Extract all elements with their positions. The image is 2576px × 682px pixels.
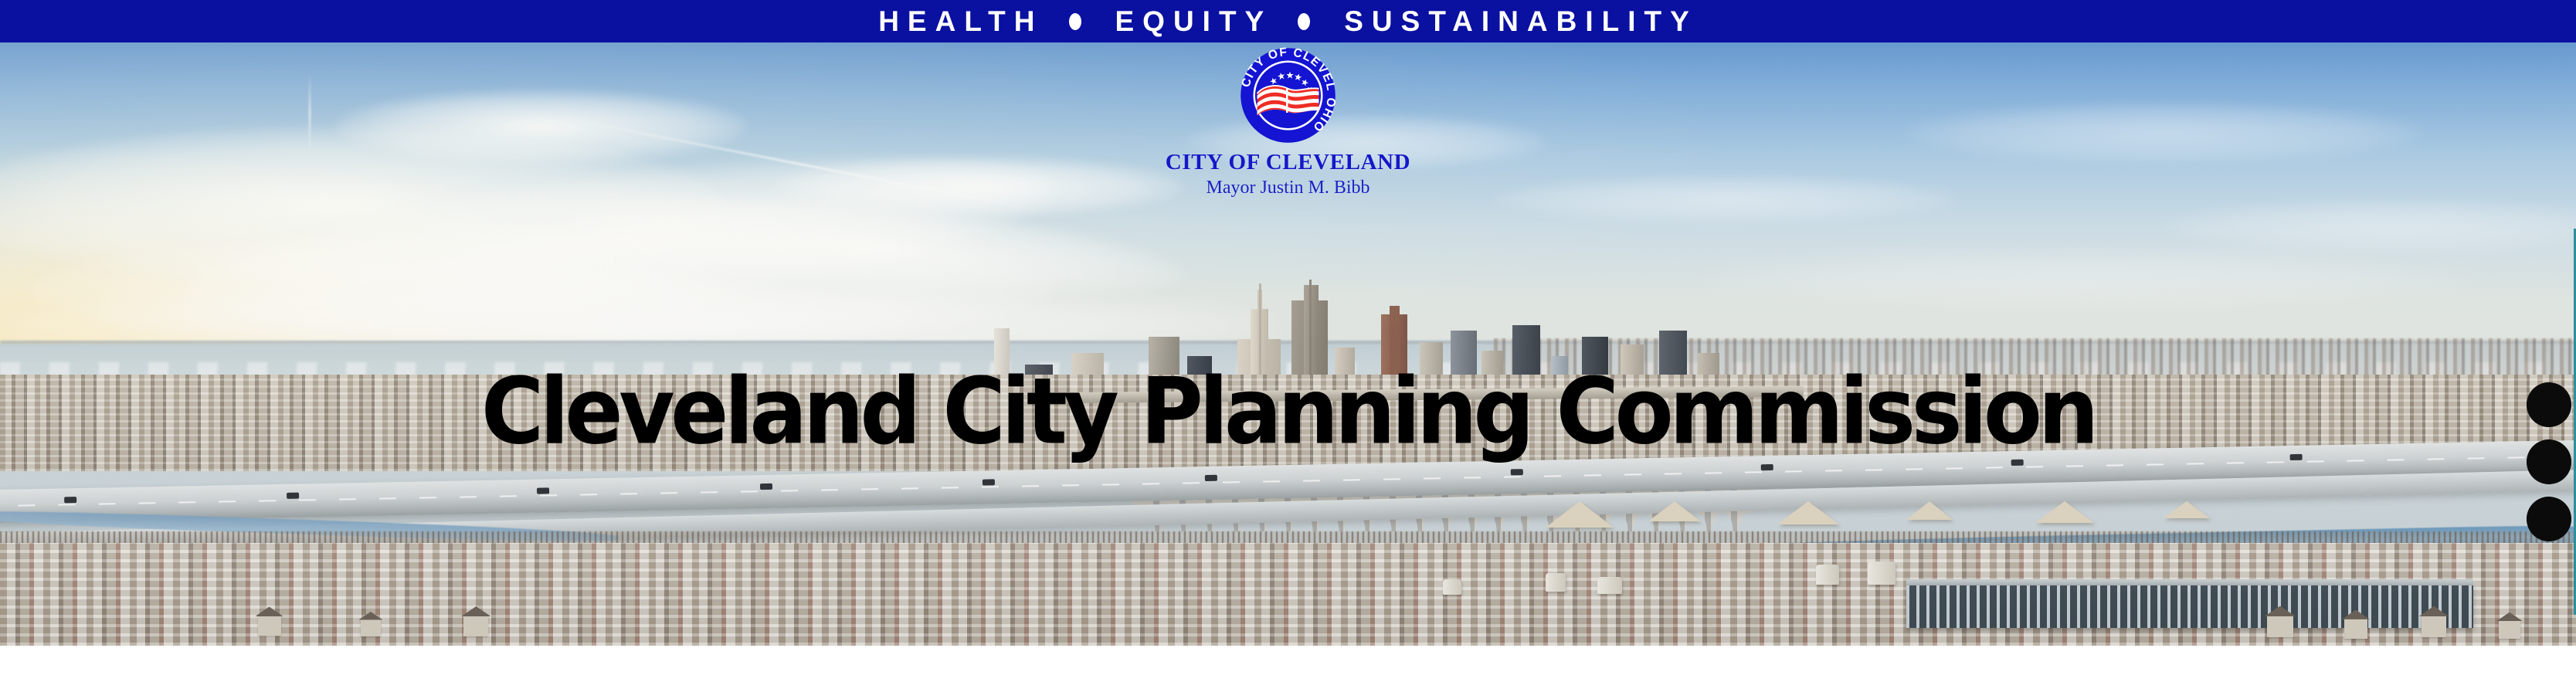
vehicle: [64, 497, 76, 503]
logo-subtitle: Mayor Justin M. Bibb: [1206, 178, 1369, 197]
gravel-pile: [1648, 501, 1701, 521]
vehicle: [2011, 460, 2024, 466]
storage-tank: [1816, 565, 1839, 585]
storage-tank: [1868, 562, 1896, 585]
hero-banner: CITY OF CLEVELAND OHIO: [0, 42, 2576, 646]
contrail: [309, 73, 311, 157]
tagline-word-sustainability: SUSTAINABILITY: [1344, 7, 1698, 36]
gravel-pile: [2035, 501, 2094, 523]
glass-office-building: [1906, 585, 2473, 628]
youtube-icon: [2527, 382, 2571, 427]
logo-title: CITY OF CLEVELAND: [1166, 151, 1410, 174]
vehicle: [1510, 469, 1522, 475]
gravel-pile: [1906, 501, 1953, 520]
facebook-icon: [2527, 497, 2571, 541]
instagram-icon: [2527, 439, 2571, 484]
vehicle: [1204, 475, 1217, 481]
storage-tank: [1597, 577, 1622, 594]
vehicle: [1761, 464, 1773, 470]
storage-tank: [1546, 573, 1566, 592]
city-logo-block[interactable]: CITY OF CLEVELAND OHIO: [1111, 42, 1466, 197]
social-link-youtube[interactable]: [2527, 382, 2571, 427]
house: [2499, 620, 2520, 639]
bullet-dot-icon: [1298, 13, 1310, 30]
gravel-pile: [1546, 501, 1614, 528]
social-link-instagram[interactable]: [2527, 439, 2571, 484]
social-links: [2527, 382, 2571, 541]
house: [2422, 616, 2446, 637]
footer-spacer: [0, 646, 2576, 682]
house: [463, 616, 488, 636]
vehicle: [287, 492, 299, 498]
gravel-pile: [1777, 501, 1839, 524]
house: [2344, 619, 2367, 639]
house: [2267, 616, 2293, 637]
bullet-dot-icon: [1069, 13, 1081, 30]
storage-tank: [1443, 579, 1461, 595]
vehicle: [2289, 454, 2302, 460]
cloud: [1494, 175, 1957, 223]
vehicle: [982, 479, 994, 485]
cloud: [1906, 103, 2422, 163]
house: [361, 619, 381, 636]
social-link-facebook[interactable]: [2527, 497, 2571, 541]
vehicle: [537, 487, 549, 494]
vehicle: [759, 484, 772, 490]
tagline-word-health: HEALTH: [878, 7, 1043, 36]
cloud: [1700, 248, 2473, 308]
tagline-group: HEALTH EQUITY SUSTAINABILITY: [878, 7, 1698, 36]
city-of-cleveland-seal-icon: CITY OF CLEVELAND OHIO: [1240, 47, 1336, 144]
cloud: [335, 90, 748, 163]
tagline-word-equity: EQUITY: [1115, 7, 1273, 36]
house: [258, 616, 281, 636]
tagline-banner: HEALTH EQUITY SUSTAINABILITY: [0, 0, 2576, 42]
gravel-pile: [2164, 501, 2210, 518]
